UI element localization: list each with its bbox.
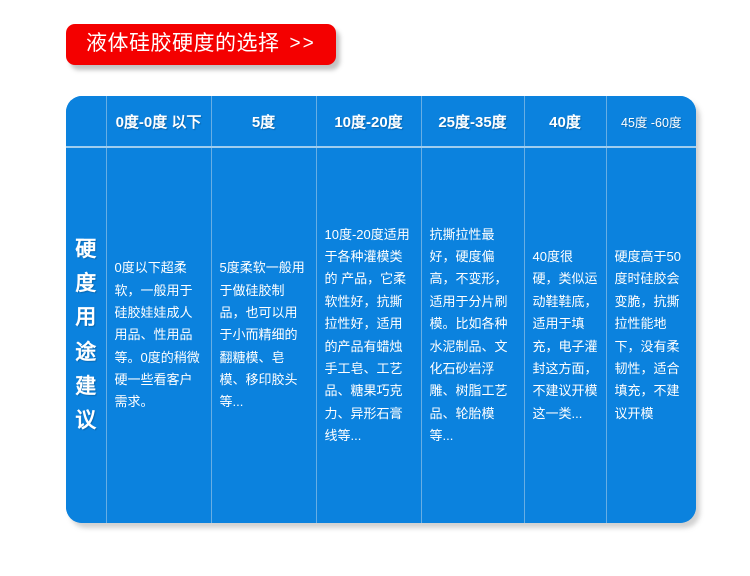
table-corner-cell xyxy=(66,96,106,147)
row-label-hardness-usage-advice: 硬 度 用 途 建 议 xyxy=(66,147,106,523)
column-header-45-60-degrees: 45度 -60度 xyxy=(606,96,696,147)
row-label-char-5: 议 xyxy=(75,404,96,438)
table-row: 硬 度 用 途 建 议 0度以下超柔软，一般用于硅胶娃娃成人用品、性用品等。0度… xyxy=(66,147,696,523)
column-header-40-degrees: 40度 xyxy=(524,96,606,147)
row-label-char-0: 硬 xyxy=(75,233,96,267)
banner-title-text: 液体硅胶硬度的选择 xyxy=(86,33,280,54)
row-label-vertical-text: 硬 度 用 途 建 议 xyxy=(66,233,106,437)
cell-45-60-degrees-description: 硬度高于50度时硅胶会变脆，抗撕拉性能地下，没有柔韧性，适合填充，不建议开模 xyxy=(606,147,696,523)
cell-0-degrees-description: 0度以下超柔软，一般用于硅胶娃娃成人用品、性用品等。0度的稍微硬一些看客户需求。 xyxy=(106,147,211,523)
hardness-table-container: 0度-0度 以下 5度 10度-20度 25度-35度 40度 45度 -60度… xyxy=(66,96,690,523)
row-label-char-1: 度 xyxy=(75,267,96,301)
hardness-table: 0度-0度 以下 5度 10度-20度 25度-35度 40度 45度 -60度… xyxy=(66,96,696,523)
title-banner-container: 液体硅胶硬度的选择 >> xyxy=(66,24,336,65)
cell-10-20-degrees-description: 10度-20度适用于各种灌模类的 产品，它柔软性好，抗撕拉性好，适用的产品有蜡烛… xyxy=(316,147,421,523)
double-chevron-right-icon: >> xyxy=(290,34,316,53)
column-header-25-35-degrees: 25度-35度 xyxy=(421,96,524,147)
table-header-row: 0度-0度 以下 5度 10度-20度 25度-35度 40度 45度 -60度 xyxy=(66,96,696,147)
column-header-5-degrees: 5度 xyxy=(211,96,316,147)
row-label-char-2: 用 xyxy=(75,301,96,335)
title-banner: 液体硅胶硬度的选择 >> xyxy=(66,24,336,65)
cell-40-degrees-description: 40度很 硬，类似运动鞋鞋底，适用于填充，电子灌封这方面，不建议开模这一类... xyxy=(524,147,606,523)
column-header-10-20-degrees: 10度-20度 xyxy=(316,96,421,147)
row-label-char-3: 途 xyxy=(75,336,96,370)
row-label-char-4: 建 xyxy=(75,370,96,404)
cell-5-degrees-description: 5度柔软一般用于做硅胶制品，也可以用于小而精细的翻糖模、皂模、移印胶头等... xyxy=(211,147,316,523)
column-header-0-degrees: 0度-0度 以下 xyxy=(106,96,211,147)
cell-25-35-degrees-description: 抗撕拉性最好，硬度偏高，不变形，适用于分片刷模。比如各种水泥制品、文化石砂岩浮雕… xyxy=(421,147,524,523)
